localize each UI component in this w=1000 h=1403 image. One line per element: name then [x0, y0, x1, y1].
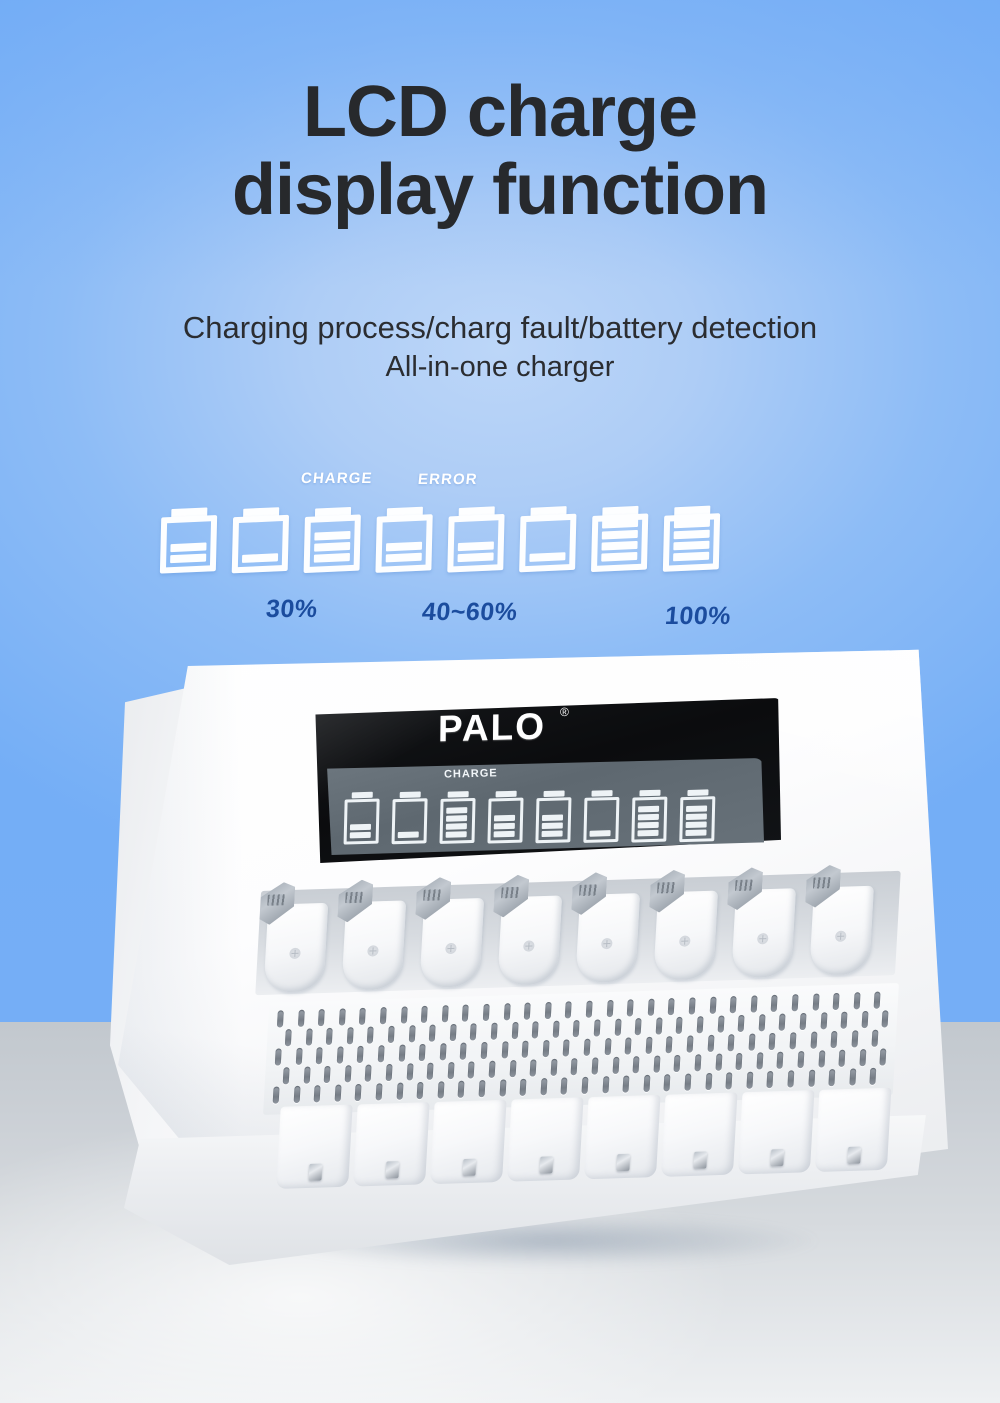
- vent-hole: [326, 1028, 333, 1045]
- brand-logo: PALO: [438, 706, 546, 751]
- screen-battery-icon: [392, 791, 428, 844]
- screen-battery-segment: [398, 832, 419, 839]
- vent-hole: [736, 1053, 743, 1070]
- vent-hole: [305, 1028, 312, 1045]
- vent-hole: [297, 1010, 304, 1027]
- battery-bay[interactable]: [661, 1092, 746, 1181]
- vent-hole: [728, 1034, 735, 1051]
- battery-segment: [314, 553, 350, 563]
- battery-shell-icon: [591, 513, 648, 572]
- metal-contact-icon: [847, 1147, 861, 1164]
- vent-hole: [709, 997, 716, 1014]
- screen-battery-segment-stack: [685, 799, 707, 836]
- vent-hole: [501, 1041, 508, 1058]
- vent-hole: [396, 1083, 403, 1100]
- vent-hole: [797, 1051, 804, 1068]
- vent-hole: [540, 1078, 547, 1095]
- vent-hole: [606, 1000, 613, 1017]
- screen-battery-segment: [638, 806, 659, 813]
- screen-battery-icon: [439, 791, 475, 844]
- battery-segment: [601, 552, 637, 562]
- vent-hole: [275, 1048, 282, 1065]
- battery-segment: [386, 542, 422, 552]
- vent-hole: [522, 1041, 529, 1058]
- battery-segment-stack: [458, 516, 495, 562]
- vent-hole: [627, 999, 634, 1016]
- battery-segment: [529, 552, 565, 562]
- battery-shell-icon: [375, 514, 432, 573]
- lcd-diagram: CHARGE ERROR 30% 40~60% 100%: [160, 455, 760, 640]
- device-lcd-screen: CHARGE: [320, 758, 764, 855]
- vent-hole: [853, 992, 860, 1009]
- vent-hole: [645, 1037, 652, 1054]
- registered-trademark-icon: ®: [560, 705, 569, 719]
- vent-hole: [668, 998, 675, 1015]
- screen-battery-cap-icon: [400, 791, 421, 798]
- screen-battery-segment: [446, 815, 467, 822]
- battery-shell-icon: [232, 515, 289, 574]
- vent-hole: [874, 992, 881, 1009]
- vent-hole: [489, 1061, 496, 1078]
- screen-battery-shell-icon: [392, 798, 428, 844]
- vent-hole: [880, 1048, 887, 1065]
- vent-hole: [820, 1012, 827, 1029]
- battery-shell-icon: [519, 514, 576, 573]
- vent-hole: [273, 1086, 280, 1103]
- vent-hole: [479, 1080, 486, 1097]
- page-title: LCD charge display function: [0, 74, 1000, 230]
- diagram-battery-icon: [304, 506, 362, 573]
- vent-hole: [468, 1061, 475, 1078]
- vent-hole: [592, 1057, 599, 1074]
- battery-segment: [673, 552, 709, 562]
- diagram-battery-row: [159, 482, 761, 601]
- screen-battery-icon: [535, 790, 571, 843]
- screen-battery-segment: [446, 823, 467, 830]
- vent-hole: [447, 1062, 454, 1079]
- vent-hole: [851, 1030, 858, 1047]
- screen-battery-segment: [686, 805, 707, 812]
- battery-segment: [602, 519, 638, 529]
- diagram-battery-icon: [232, 507, 290, 574]
- screen-battery-shell-icon: [487, 798, 523, 844]
- vent-hole: [532, 1021, 539, 1038]
- vent-hole: [347, 1027, 354, 1044]
- vent-hole: [359, 1008, 366, 1025]
- metal-contact-icon: [616, 1154, 630, 1171]
- vent-hole: [849, 1068, 856, 1085]
- metal-contact-icon: [539, 1156, 553, 1173]
- screen-battery-icon: [487, 791, 523, 844]
- metal-contact-icon: [770, 1149, 784, 1166]
- vent-hole: [767, 1071, 774, 1088]
- screen-battery-segment: [686, 813, 707, 820]
- vent-hole: [859, 1049, 866, 1066]
- vent-hole: [829, 1069, 836, 1086]
- vent-hole: [277, 1010, 284, 1027]
- vent-hole: [790, 1032, 797, 1049]
- battery-segment-stack: [529, 516, 566, 562]
- vent-hole: [565, 1001, 572, 1018]
- vent-hole: [748, 1034, 755, 1051]
- screen-battery-segment: [446, 807, 467, 814]
- vent-hole: [398, 1045, 405, 1062]
- vent-hole: [344, 1065, 351, 1082]
- vent-hole: [295, 1048, 302, 1065]
- vent-hole: [511, 1022, 518, 1039]
- battery-bay[interactable]: [353, 1102, 438, 1191]
- vent-hole: [520, 1079, 527, 1096]
- device-screen-battery-row: [343, 781, 744, 854]
- screen-battery-cap-icon: [639, 790, 660, 797]
- screen-battery-segment: [542, 814, 563, 821]
- vent-hole: [334, 1085, 341, 1102]
- vent-hole: [419, 1044, 426, 1061]
- vent-hole: [367, 1026, 374, 1043]
- battery-segment: [170, 542, 206, 552]
- vent-hole: [355, 1084, 362, 1101]
- vent-hole: [573, 1020, 580, 1037]
- vent-hole: [648, 999, 655, 1016]
- vent-hole: [542, 1040, 549, 1057]
- vent-hole: [552, 1021, 559, 1038]
- vent-hole: [417, 1082, 424, 1099]
- diagram-battery-icon: [160, 507, 218, 574]
- vent-hole: [503, 1003, 510, 1020]
- vent-hole: [408, 1025, 415, 1042]
- vent-hole: [303, 1067, 310, 1084]
- battery-bay[interactable]: [430, 1099, 515, 1188]
- screen-battery-segment: [638, 814, 659, 821]
- vent-hole: [439, 1043, 446, 1060]
- vent-hole: [421, 1006, 428, 1023]
- screen-battery-segment: [494, 831, 515, 838]
- battery-shell-icon: [304, 514, 361, 573]
- vent-hole: [841, 1012, 848, 1029]
- metal-contact-icon: [693, 1151, 707, 1168]
- vent-hole: [643, 1075, 650, 1092]
- screen-battery-shell-icon: [631, 797, 667, 843]
- screen-battery-segment-stack: [350, 802, 372, 839]
- vent-hole: [581, 1077, 588, 1094]
- vent-hole: [380, 1007, 387, 1024]
- vent-hole: [437, 1081, 444, 1098]
- vent-hole: [483, 1004, 490, 1021]
- vent-hole: [730, 996, 737, 1013]
- vent-hole: [357, 1046, 364, 1063]
- vent-hole: [750, 995, 757, 1012]
- battery-segment: [242, 553, 278, 563]
- battery-segment-stack: [242, 517, 279, 563]
- vent-hole: [499, 1079, 506, 1096]
- vent-hole: [481, 1042, 488, 1059]
- battery-segment: [602, 530, 638, 540]
- vent-hole: [777, 1052, 784, 1069]
- screen-battery-segment: [686, 821, 707, 828]
- battery-slot[interactable]: [255, 880, 340, 1001]
- vent-hole: [787, 1070, 794, 1087]
- screen-battery-segment-stack: [494, 801, 516, 838]
- battery-slot[interactable]: [333, 878, 418, 999]
- vent-hole: [604, 1038, 611, 1055]
- screen-battery-shell-icon: [439, 798, 475, 844]
- vent-hole: [571, 1058, 578, 1075]
- vent-hole: [664, 1074, 671, 1091]
- vent-hole: [831, 1031, 838, 1048]
- vent-hole: [707, 1035, 714, 1052]
- vent-hole: [818, 1050, 825, 1067]
- vent-hole: [460, 1043, 467, 1060]
- device-screen-charge-label: CHARGE: [444, 767, 498, 780]
- vent-hole: [756, 1052, 763, 1069]
- vent-hole: [697, 1016, 704, 1033]
- vent-hole: [612, 1057, 619, 1074]
- diagram-percent-30: 30%: [265, 595, 319, 624]
- screen-battery-segment-stack: [542, 800, 564, 837]
- screen-battery-segment: [542, 822, 563, 829]
- vent-hole: [746, 1072, 753, 1089]
- vent-hole: [400, 1006, 407, 1023]
- battery-charger-product: PALO ® CHARGE: [108, 645, 948, 1265]
- vent-hole: [337, 1046, 344, 1063]
- battery-segment: [458, 552, 494, 562]
- vent-hole: [839, 1050, 846, 1067]
- vent-hole: [530, 1059, 537, 1076]
- screen-battery-cap-icon: [352, 792, 373, 799]
- metal-contact-icon: [309, 1164, 323, 1181]
- vent-hole: [717, 1015, 724, 1032]
- vent-hole: [462, 1004, 469, 1021]
- diagram-battery-icon: [591, 505, 649, 572]
- screen-battery-segment: [350, 832, 371, 839]
- battery-slot[interactable]: [489, 873, 574, 994]
- battery-bay[interactable]: [276, 1104, 361, 1193]
- battery-segment: [458, 541, 494, 551]
- battery-segment-stack: [170, 517, 207, 563]
- vent-hole: [623, 1075, 630, 1092]
- battery-bay[interactable]: [507, 1097, 592, 1186]
- screen-battery-icon: [631, 790, 667, 843]
- battery-segment-stack: [673, 516, 710, 562]
- vent-hole: [293, 1086, 300, 1103]
- vent-hole: [726, 1072, 733, 1089]
- vent-hole: [705, 1073, 712, 1090]
- vent-hole: [738, 1015, 745, 1032]
- battery-shell-icon: [447, 514, 504, 573]
- vent-hole: [792, 994, 799, 1011]
- vent-hole: [458, 1081, 465, 1098]
- vent-hole: [545, 1002, 552, 1019]
- vent-hole: [427, 1063, 434, 1080]
- vent-hole: [812, 993, 819, 1010]
- vent-hole: [758, 1014, 765, 1031]
- screen-battery-segment-stack: [398, 801, 420, 838]
- battery-segment: [314, 542, 350, 552]
- battery-segment-stack: [386, 517, 423, 563]
- vent-hole: [550, 1059, 557, 1076]
- metal-contact-icon: [462, 1159, 476, 1176]
- vent-hole: [429, 1025, 436, 1042]
- vent-hole: [386, 1064, 393, 1081]
- screen-battery-cap-icon: [496, 791, 517, 798]
- vent-hole: [800, 1013, 807, 1030]
- vent-hole: [694, 1054, 701, 1071]
- vent-hole: [365, 1065, 372, 1082]
- vent-hole: [318, 1009, 325, 1026]
- screen-battery-icon: [679, 789, 715, 842]
- screen-battery-segment: [494, 823, 515, 830]
- vent-hole: [594, 1019, 601, 1036]
- battery-segment: [673, 541, 709, 551]
- battery-segment-stack: [314, 517, 351, 563]
- vent-hole: [314, 1085, 321, 1102]
- diagram-error-label: ERROR: [417, 471, 478, 488]
- vent-hole: [779, 1014, 786, 1031]
- screen-battery-segment-stack: [589, 800, 611, 837]
- battery-segment: [170, 554, 206, 564]
- diagram-battery-icon: [447, 506, 505, 573]
- vent-hole: [666, 1036, 673, 1053]
- screen-battery-segment: [350, 824, 371, 831]
- subtitle-line-1: Charging process/charg fault/battery det…: [183, 310, 817, 345]
- battery-slot[interactable]: [723, 866, 808, 987]
- screen-battery-segment: [494, 815, 515, 822]
- screen-battery-segment-stack: [637, 800, 659, 837]
- vent-hole: [635, 1018, 642, 1035]
- vent-hole: [316, 1047, 323, 1064]
- page-subtitle: Charging process/charg fault/battery det…: [0, 307, 1000, 387]
- battery-bay[interactable]: [584, 1095, 669, 1184]
- vent-hole: [633, 1056, 640, 1073]
- upper-battery-slot-row[interactable]: [255, 863, 901, 1003]
- battery-bay[interactable]: [815, 1087, 900, 1176]
- vent-hole: [810, 1032, 817, 1049]
- metal-contact-icon: [385, 1161, 399, 1178]
- vent-hole: [861, 1011, 868, 1028]
- diagram-battery-icon: [519, 506, 577, 573]
- screen-battery-segment: [637, 830, 658, 837]
- vent-hole: [285, 1029, 292, 1046]
- screen-battery-icon: [583, 790, 619, 843]
- screen-battery-shell-icon: [679, 796, 715, 842]
- vent-hole: [561, 1077, 568, 1094]
- diagram-battery-icon: [663, 505, 721, 572]
- screen-battery-icon: [344, 792, 380, 845]
- vent-hole: [406, 1063, 413, 1080]
- vent-hole: [684, 1074, 691, 1091]
- battery-segment: [674, 519, 710, 529]
- headline-line-1: LCD charge: [303, 72, 697, 152]
- vent-hole: [450, 1024, 457, 1041]
- vent-hole: [614, 1019, 621, 1036]
- screen-battery-segment: [542, 830, 563, 837]
- vent-hole: [689, 997, 696, 1014]
- battery-segment: [314, 531, 350, 541]
- vent-hole: [808, 1070, 815, 1087]
- screen-battery-cap-icon: [591, 790, 612, 797]
- screen-battery-segment: [589, 830, 610, 837]
- vent-hole: [388, 1026, 395, 1043]
- screen-battery-shell-icon: [583, 797, 619, 843]
- battery-slot[interactable]: [411, 876, 496, 997]
- screen-battery-cap-icon: [687, 789, 708, 796]
- screen-battery-cap-icon: [448, 791, 469, 798]
- vent-hole: [586, 1001, 593, 1018]
- battery-bay[interactable]: [738, 1090, 823, 1179]
- battery-shell-icon: [160, 515, 217, 574]
- screen-battery-segment-stack: [446, 801, 468, 838]
- vent-hole: [882, 1010, 889, 1027]
- vent-hole: [676, 1017, 683, 1034]
- diagram-battery-icon: [375, 506, 433, 573]
- vent-hole: [524, 1003, 531, 1020]
- vent-hole: [771, 995, 778, 1012]
- subtitle-line-2: All-in-one charger: [0, 348, 1000, 387]
- screen-battery-segment: [685, 829, 706, 836]
- vent-hole: [563, 1039, 570, 1056]
- vent-hole: [602, 1076, 609, 1093]
- diagram-charge-label: CHARGE: [300, 470, 373, 487]
- screen-battery-segment: [638, 822, 659, 829]
- vent-hole: [653, 1056, 660, 1073]
- battery-segment: [386, 553, 422, 563]
- vent-hole: [339, 1008, 346, 1025]
- vent-hole: [833, 993, 840, 1010]
- vent-hole: [870, 1068, 877, 1085]
- vent-hole: [715, 1054, 722, 1071]
- vent-hole: [324, 1066, 331, 1083]
- vent-hole: [584, 1039, 591, 1056]
- vent-hole: [674, 1055, 681, 1072]
- screen-battery-shell-icon: [535, 797, 571, 843]
- battery-slot[interactable]: [801, 863, 886, 984]
- vent-hole: [509, 1060, 516, 1077]
- diagram-percent-40-60: 40~60%: [421, 598, 519, 627]
- battery-slot[interactable]: [645, 868, 730, 989]
- vent-hole: [442, 1005, 449, 1022]
- vent-hole: [491, 1023, 498, 1040]
- battery-slot[interactable]: [567, 871, 652, 992]
- battery-segment-stack: [601, 516, 638, 562]
- vent-hole: [376, 1083, 383, 1100]
- vent-hole: [283, 1067, 290, 1084]
- screen-battery-shell-icon: [344, 799, 380, 845]
- vent-hole: [378, 1045, 385, 1062]
- screen-battery-cap-icon: [544, 790, 565, 797]
- battery-segment: [601, 541, 637, 551]
- vent-hole: [872, 1030, 879, 1047]
- battery-shell-icon: [663, 513, 720, 572]
- vent-hole: [769, 1033, 776, 1050]
- vent-hole: [655, 1017, 662, 1034]
- diagram-percent-100: 100%: [664, 602, 732, 631]
- headline-line-2: display function: [0, 152, 1000, 230]
- screen-battery-segment: [446, 831, 467, 838]
- battery-segment: [674, 530, 710, 540]
- vent-hole: [625, 1037, 632, 1054]
- vent-hole: [687, 1035, 694, 1052]
- vent-hole: [470, 1023, 477, 1040]
